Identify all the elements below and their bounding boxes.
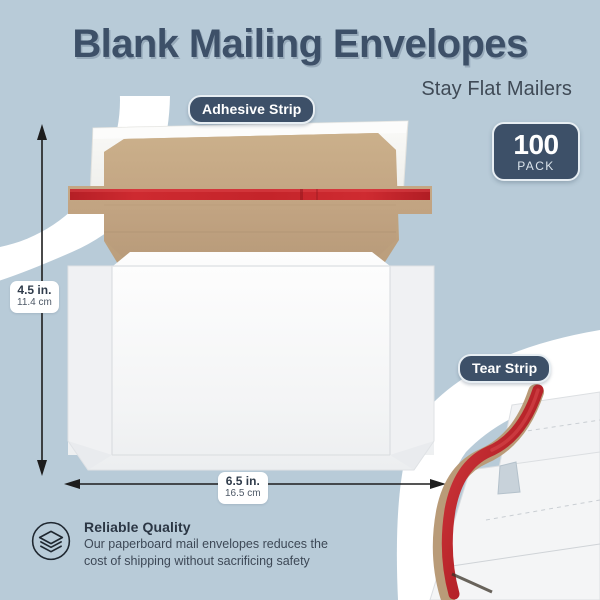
layers-icon bbox=[30, 520, 72, 562]
page-subtitle: Stay Flat Mailers bbox=[421, 78, 572, 101]
pack-unit-label: PACK bbox=[517, 160, 554, 172]
pack-count: 100 bbox=[513, 131, 558, 159]
product-infographic: Blank Mailing Envelopes Stay Flat Mailer… bbox=[0, 0, 600, 600]
feature-block: Reliable Quality Our paperboard mail env… bbox=[30, 519, 346, 570]
arrowhead-left bbox=[64, 479, 80, 489]
dimension-label-height: 4.5 in. 11.4 cm bbox=[10, 281, 59, 313]
callout-tear-strip: Tear Strip bbox=[458, 354, 551, 383]
feature-title: Reliable Quality bbox=[84, 519, 346, 535]
width-imperial: 6.5 in. bbox=[225, 475, 261, 488]
height-metric: 11.4 cm bbox=[17, 297, 52, 308]
feature-description: Our paperboard mail envelopes reduces th… bbox=[84, 536, 346, 570]
pack-quantity-badge: 100 PACK bbox=[492, 122, 580, 181]
tear-strip-line bbox=[70, 189, 430, 200]
feature-text: Reliable Quality Our paperboard mail env… bbox=[84, 519, 346, 570]
dimension-label-width: 6.5 in. 16.5 cm bbox=[218, 472, 268, 504]
height-imperial: 4.5 in. bbox=[17, 284, 52, 297]
width-metric: 16.5 cm bbox=[225, 488, 261, 499]
page-title: Blank Mailing Envelopes bbox=[0, 22, 600, 67]
callout-adhesive-strip: Adhesive Strip bbox=[188, 95, 315, 124]
arrowhead-up bbox=[37, 124, 47, 140]
tear-strip-detail bbox=[430, 390, 600, 600]
envelope-body bbox=[68, 252, 434, 470]
arrowhead-down bbox=[37, 460, 47, 476]
